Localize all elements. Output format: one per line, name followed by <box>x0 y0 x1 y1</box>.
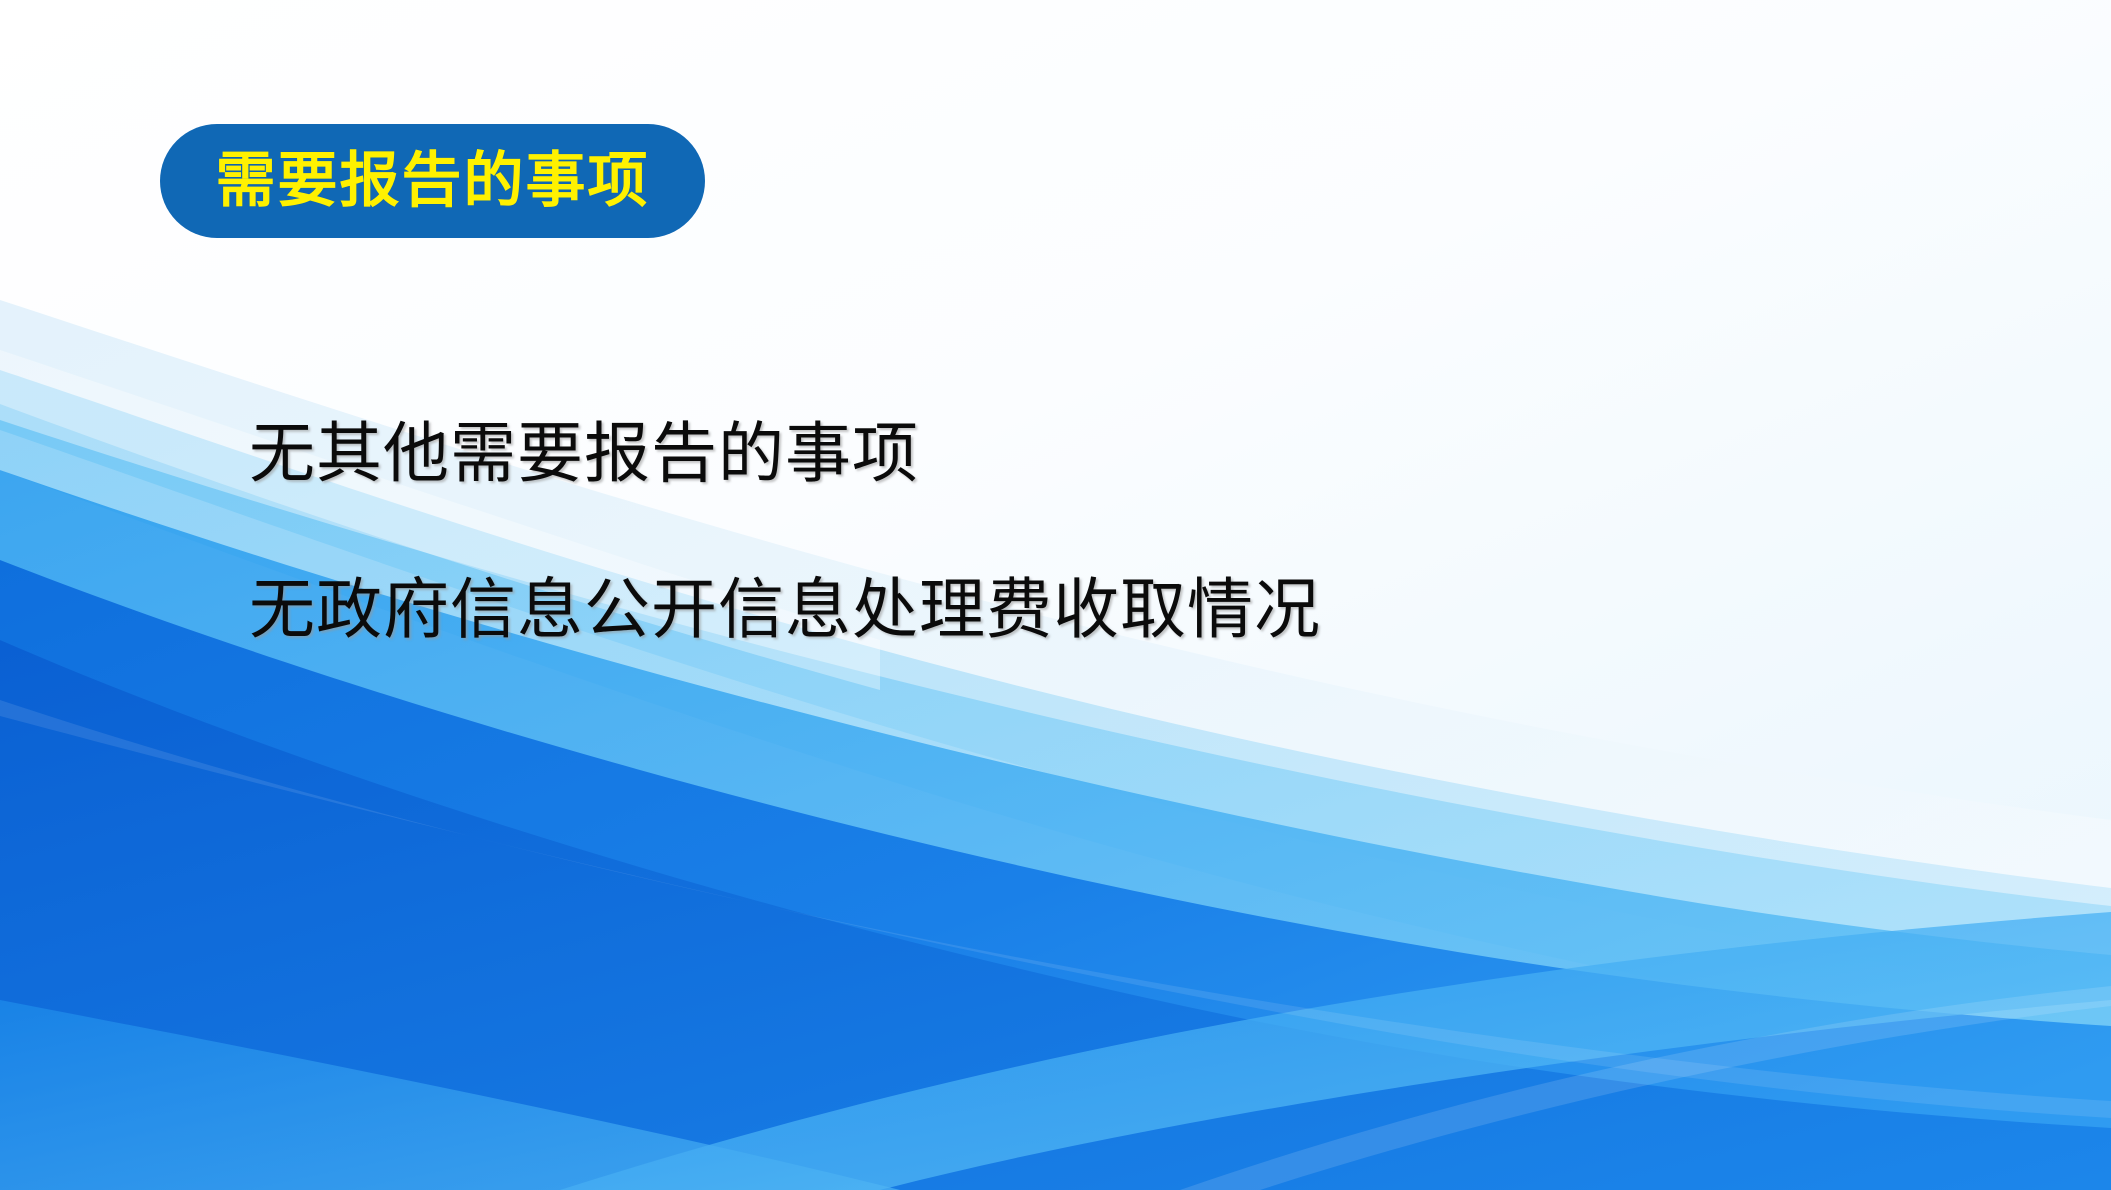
body-line-1: 无其他需要报告的事项 <box>249 415 1949 493</box>
body-text-block: 无其他需要报告的事项 无政府信息公开信息处理费收取情况 <box>249 415 1949 649</box>
section-title-text: 需要报告的事项 <box>216 151 650 211</box>
section-title-pill: 需要报告的事项 <box>160 124 705 238</box>
body-line-2: 无政府信息公开信息处理费收取情况 <box>249 571 1949 649</box>
body-line-spacer <box>249 493 1949 571</box>
slide-canvas: 需要报告的事项 无其他需要报告的事项 无政府信息公开信息处理费收取情况 <box>0 0 2111 1190</box>
